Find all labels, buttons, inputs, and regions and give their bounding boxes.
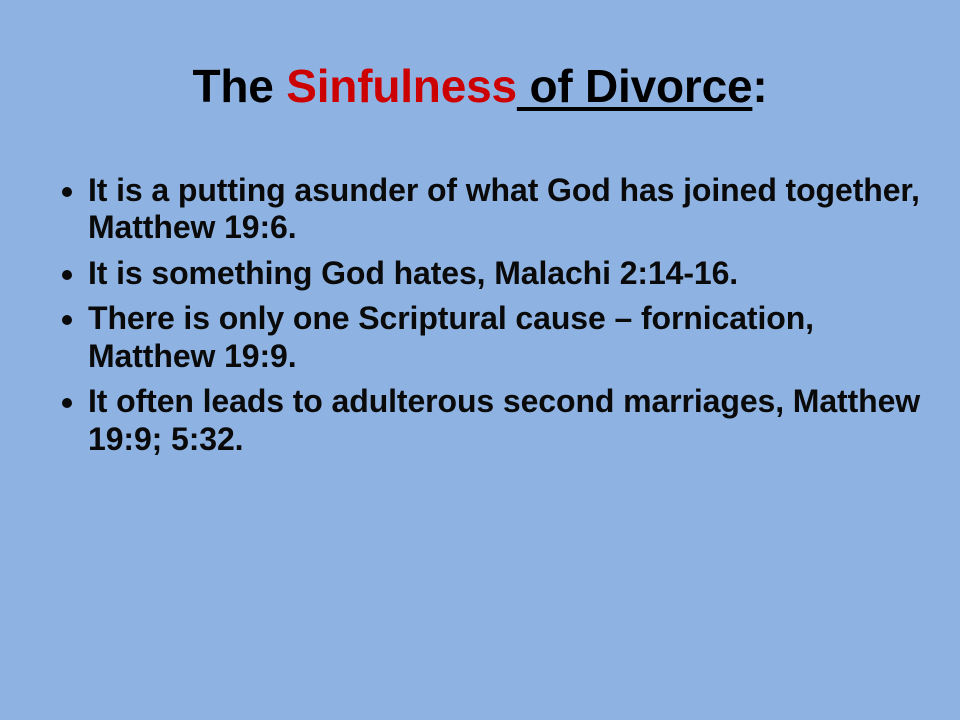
title-segment-sinfulness: Sinfulness (286, 60, 517, 112)
bullet-list: It is a putting asunder of what God has … (55, 172, 935, 466)
list-item-label: It often leads to adulterous second marr… (88, 383, 935, 458)
presentation-slide: The Sinfulness of Divorce: It is a putti… (0, 0, 960, 720)
list-item: There is only one Scriptural cause – for… (55, 300, 935, 375)
list-item-label: It is a putting asunder of what God has … (88, 172, 935, 247)
bullet-dot-icon (62, 315, 72, 325)
list-item: It is a putting asunder of what God has … (55, 172, 935, 247)
list-item-label: There is only one Scriptural cause – for… (88, 300, 935, 375)
title-segment-colon: : (752, 60, 767, 112)
bullet-dot-icon (62, 270, 72, 280)
list-item-label: It is something God hates, Malachi 2:14-… (88, 255, 935, 292)
bullet-dot-icon (62, 398, 72, 408)
title-segment-of-divorce: of Divorce (517, 60, 753, 112)
bullet-dot-icon (62, 187, 72, 197)
title-segment-the: The (192, 60, 286, 112)
list-item: It often leads to adulterous second marr… (55, 383, 935, 458)
page-title: The Sinfulness of Divorce: (0, 62, 960, 111)
list-item: It is something God hates, Malachi 2:14-… (55, 255, 935, 292)
